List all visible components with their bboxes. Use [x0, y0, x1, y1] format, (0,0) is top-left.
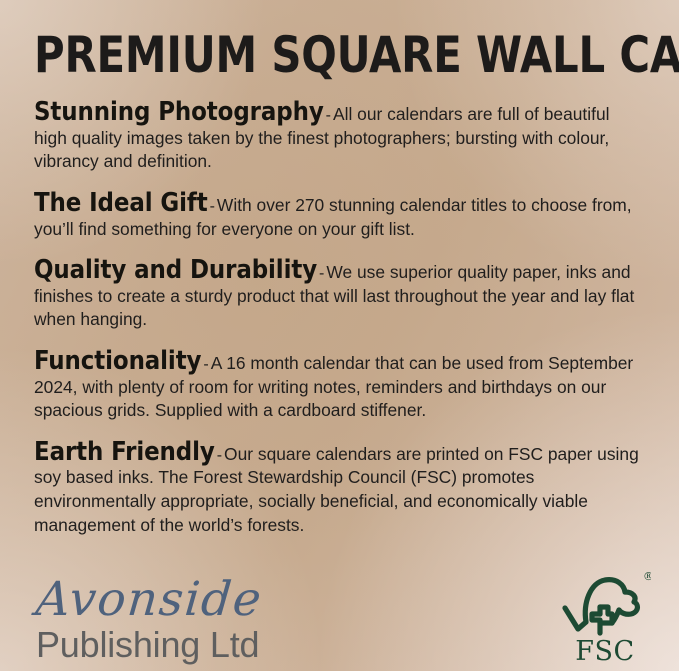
feature-list: Stunning Photography-All our calendars a…	[34, 100, 645, 537]
feature-item-earth-friendly: Earth Friendly-Our square calendars are …	[34, 440, 645, 537]
poster-content: PREMIUM SQUARE WALL CALENDARS Stunning P…	[0, 0, 679, 537]
brand-name: Avonside	[34, 576, 264, 623]
feature-heading: The Ideal Gift	[34, 188, 208, 218]
registered-trademark-symbol: ®	[643, 570, 651, 583]
feature-heading: Functionality	[34, 346, 201, 376]
poster-footer: Avonside Publishing Ltd	[0, 553, 679, 671]
page-title: PREMIUM SQUARE WALL CALENDARS	[34, 0, 602, 80]
fsc-certification-logo: ® FSC	[559, 567, 651, 665]
feature-heading: Quality and Durability	[34, 255, 317, 285]
feature-item-the-ideal-gift: The Ideal Gift-With over 270 stunning ca…	[34, 191, 645, 241]
brand-subtitle: Publishing Ltd	[36, 626, 260, 665]
calendar-feature-poster: PREMIUM SQUARE WALL CALENDARS Stunning P…	[0, 0, 679, 671]
feature-dash: -	[208, 198, 217, 215]
feature-dash: -	[317, 265, 326, 282]
feature-item-stunning-photography: Stunning Photography-All our calendars a…	[34, 100, 645, 174]
feature-heading: Earth Friendly	[34, 437, 215, 467]
feature-item-quality-and-durability: Quality and Durability-We use superior q…	[34, 258, 645, 332]
feature-dash: -	[324, 107, 333, 124]
feature-dash: -	[201, 356, 210, 373]
avonside-publishing-logo: Avonside Publishing Ltd	[34, 576, 260, 665]
feature-dash: -	[215, 447, 224, 464]
feature-item-functionality: Functionality-A 16 month calendar that c…	[34, 349, 645, 423]
feature-heading: Stunning Photography	[34, 97, 324, 127]
fsc-label: FSC	[559, 638, 651, 665]
fsc-tree-checkmark-icon: ®	[559, 567, 651, 637]
